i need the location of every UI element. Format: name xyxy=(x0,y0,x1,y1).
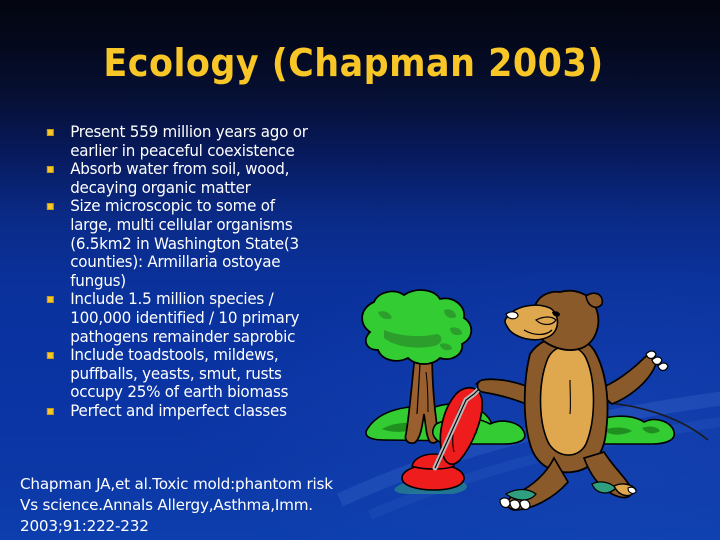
bullet-line: earlier in peaceful coexistence xyxy=(70,142,346,161)
square-bullet-icon xyxy=(47,296,54,303)
square-bullet-icon xyxy=(47,352,54,359)
bullet-line: counties): Armillaria ostoyae xyxy=(70,253,346,272)
bullet-line: decaying organic matter xyxy=(70,179,346,198)
bear-icon xyxy=(478,291,669,510)
bullet-line: Perfect and imperfect classes xyxy=(70,402,346,421)
bear-vacuuming-illustration xyxy=(340,288,720,540)
bullet-line: fungus) xyxy=(70,272,346,291)
bullet-line: Size microscopic to some of xyxy=(70,197,346,216)
bullet-line: Present 559 million years ago or xyxy=(70,123,346,142)
bullet-line: (6.5km2 in Washington State(3 xyxy=(70,235,346,254)
square-bullet-icon xyxy=(47,129,54,136)
bullet-list: Present 559 million years ago or earlier… xyxy=(44,123,356,421)
bullet-line: large, multi cellular organisms xyxy=(70,216,346,235)
bullet-line: 100,000 identified / 10 primary xyxy=(70,309,346,328)
bear-claws-back-foot xyxy=(500,498,530,510)
bullet-line: puffballs, yeasts, smut, rusts xyxy=(70,365,346,384)
bullet-item-4: Include 1.5 million species / 100,000 id… xyxy=(44,290,347,346)
slide-canvas: Ecology (Chapman 2003) Present 559 milli… xyxy=(0,0,720,540)
bullet-item-2: Absorb water from soil, wood, decaying o… xyxy=(44,160,347,197)
bullet-item-1: Present 559 million years ago or earlier… xyxy=(44,123,347,160)
bullet-line: occupy 25% of earth biomass xyxy=(70,383,346,402)
slide-title: Ecology (Chapman 2003) xyxy=(29,40,691,86)
bullet-line: pathogens remainder saprobic xyxy=(70,328,346,347)
bullet-item-5: Include toadstools, mildews, puffballs, … xyxy=(44,346,347,402)
bullet-line: Include toadstools, mildews, xyxy=(70,346,346,365)
bullet-line: Absorb water from soil, wood, xyxy=(70,160,346,179)
bullet-line: Include 1.5 million species / xyxy=(70,290,346,309)
square-bullet-icon xyxy=(47,408,54,415)
bullet-item-6: Perfect and imperfect classes xyxy=(44,402,347,421)
bullet-item-3: Size microscopic to some of large, multi… xyxy=(44,197,347,290)
square-bullet-icon xyxy=(47,166,54,173)
square-bullet-icon xyxy=(47,203,54,210)
